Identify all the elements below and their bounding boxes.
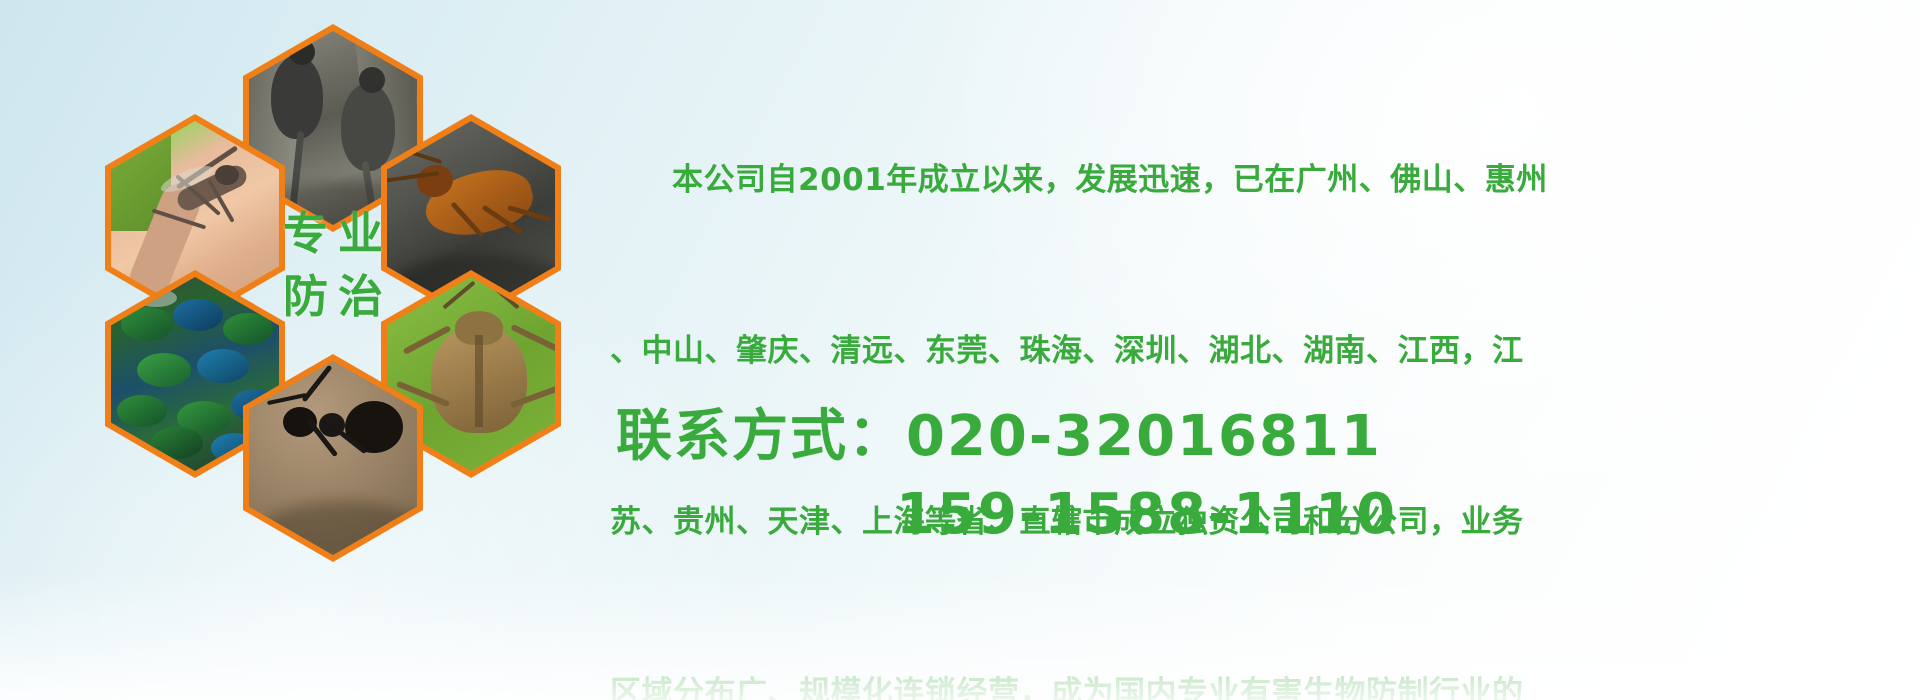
badge-line-2: 防治 [273,274,393,319]
contact-phone-1[interactable]: 020-32016811 [906,404,1382,469]
contact-block: 联系方式：020-32016811 159-1588-1110 [616,398,1916,554]
contact-label: 联系方式： [616,404,906,469]
intro-line-2: 、中山、肇庆、清远、东莞、珠海、深圳、湖北、湖南、江西，江 [610,323,1910,380]
contact-phone-2[interactable]: 159-1588-1110 [616,476,1916,554]
promo-banner: 专业 防治 本公司自2001年成立以来，发展迅速，已在广州、佛山、惠州 、中山、… [0,0,1920,700]
contact-line-primary: 联系方式：020-32016811 [616,398,1916,476]
intro-line-1: 本公司自2001年成立以来，发展迅速，已在广州、佛山、惠州 [610,152,1910,209]
hexagon-photo-cluster: 专业 防治 [95,8,595,568]
intro-line-4: 区域分布广、规模化连锁经营，成为国内专业有害生物防制行业的 [610,665,1910,700]
company-intro-paragraph: 本公司自2001年成立以来，发展迅速，已在广州、佛山、惠州 、中山、肇庆、清远、… [610,38,1910,700]
